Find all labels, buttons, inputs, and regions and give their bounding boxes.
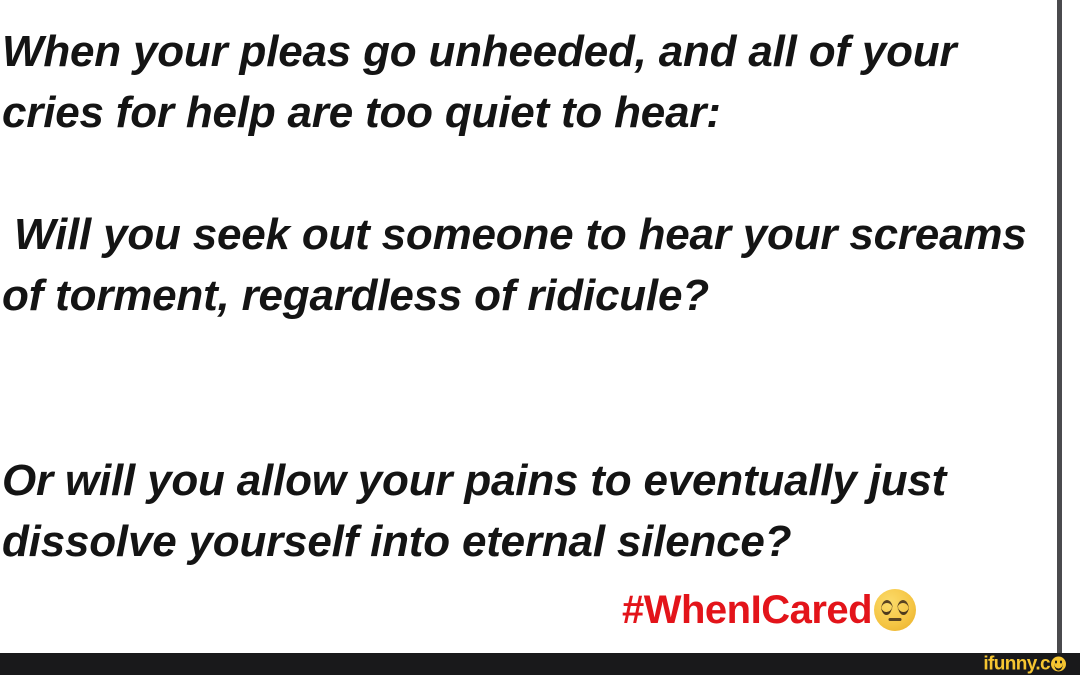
emoji-eye-right bbox=[898, 606, 909, 615]
ifunny-logo-text: ifunny.c bbox=[983, 655, 1050, 674]
ifunny-logo: ifunny.c bbox=[983, 655, 1066, 674]
right-edge-gutter bbox=[1062, 0, 1080, 653]
ifunny-watermark-bar: ifunny.c bbox=[0, 653, 1080, 675]
meme-paragraph-3: Or will you allow your pains to eventual… bbox=[2, 450, 1054, 572]
hashtag-label: #WhenICared bbox=[622, 588, 872, 632]
meme-text-panel: When your pleas go unheeded, and all of … bbox=[0, 0, 1057, 653]
emoji-eye-left bbox=[881, 606, 892, 615]
ifunny-smiley-icon bbox=[1051, 657, 1066, 672]
meme-paragraph-2: Will you seek out someone to hear your s… bbox=[2, 204, 1054, 326]
pensive-face-emoji bbox=[874, 589, 916, 631]
emoji-mouth bbox=[889, 618, 902, 621]
meme-paragraph-1: When your pleas go unheeded, and all of … bbox=[2, 21, 1054, 143]
hashtag-group: #WhenICared bbox=[622, 588, 916, 632]
smiley-mouth bbox=[1054, 664, 1063, 671]
meme-canvas: When your pleas go unheeded, and all of … bbox=[0, 0, 1080, 675]
